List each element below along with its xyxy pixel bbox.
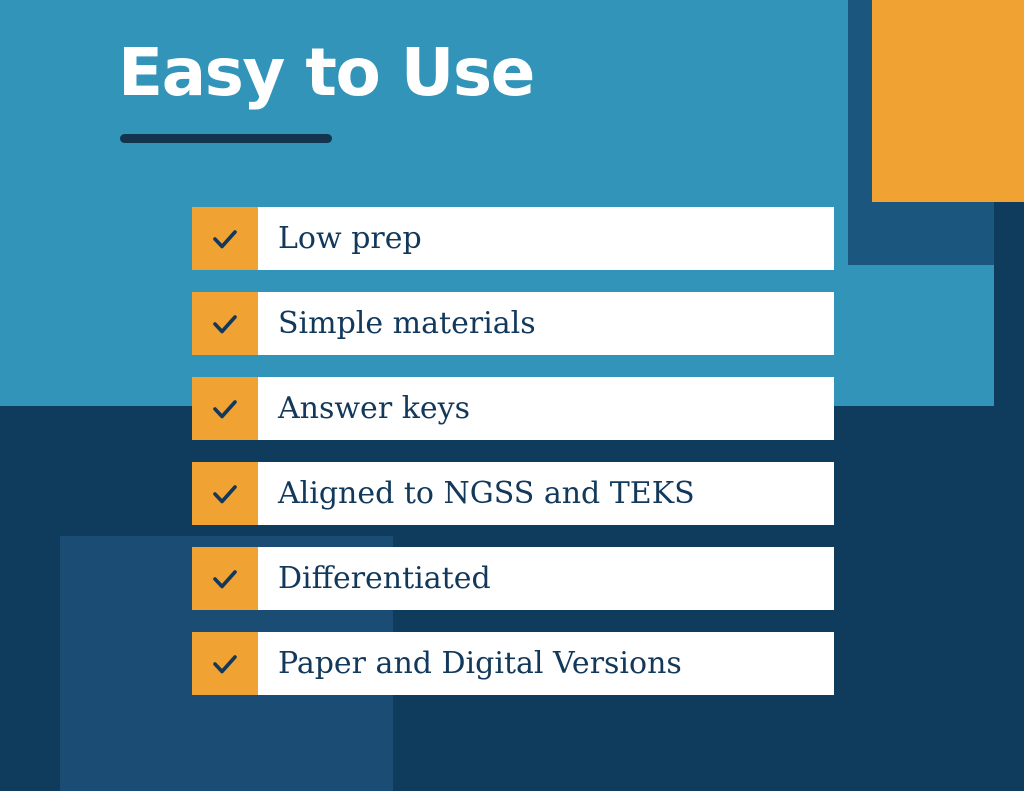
page-title: Easy to Use [118,36,534,110]
background-block-navy-right [994,202,1024,406]
background-block-orange-square [872,0,1024,202]
checklist-item[interactable]: Differentiated [192,547,834,610]
title-underline-rule [120,134,332,143]
check-icon [192,377,258,440]
checklist-item[interactable]: Aligned to NGSS and TEKS [192,462,834,525]
checklist-item-label: Answer keys [258,377,834,440]
feature-checklist: Low prep Simple materials Answer keys [192,207,834,695]
check-icon [192,207,258,270]
background-block-teal-right [848,265,994,406]
check-icon [192,547,258,610]
check-icon [192,462,258,525]
checklist-item-label: Aligned to NGSS and TEKS [258,462,834,525]
checklist-item-label: Low prep [258,207,834,270]
check-icon [192,632,258,695]
checklist-item-label: Differentiated [258,547,834,610]
checklist-item[interactable]: Answer keys [192,377,834,440]
slide-canvas: Easy to Use Low prep Simple materials [0,0,1024,791]
checklist-item[interactable]: Low prep [192,207,834,270]
checklist-item[interactable]: Paper and Digital Versions [192,632,834,695]
checklist-item-label: Simple materials [258,292,834,355]
checklist-item[interactable]: Simple materials [192,292,834,355]
check-icon [192,292,258,355]
checklist-item-label: Paper and Digital Versions [258,632,834,695]
